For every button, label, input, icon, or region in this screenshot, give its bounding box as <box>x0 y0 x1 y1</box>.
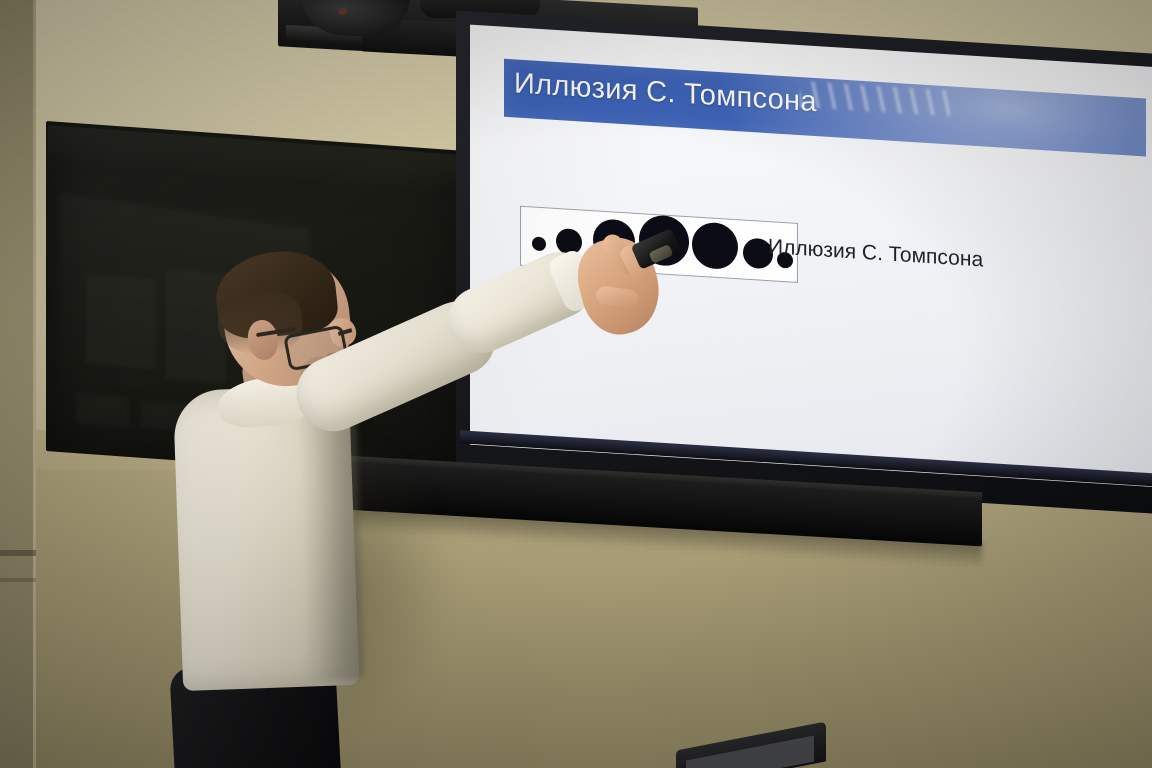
presenter-boy <box>0 0 1152 768</box>
torso-shading <box>295 399 365 681</box>
photo-scene: Иллюзия С. Томпсона Иллюзия С. Томпсона <box>0 0 1152 768</box>
